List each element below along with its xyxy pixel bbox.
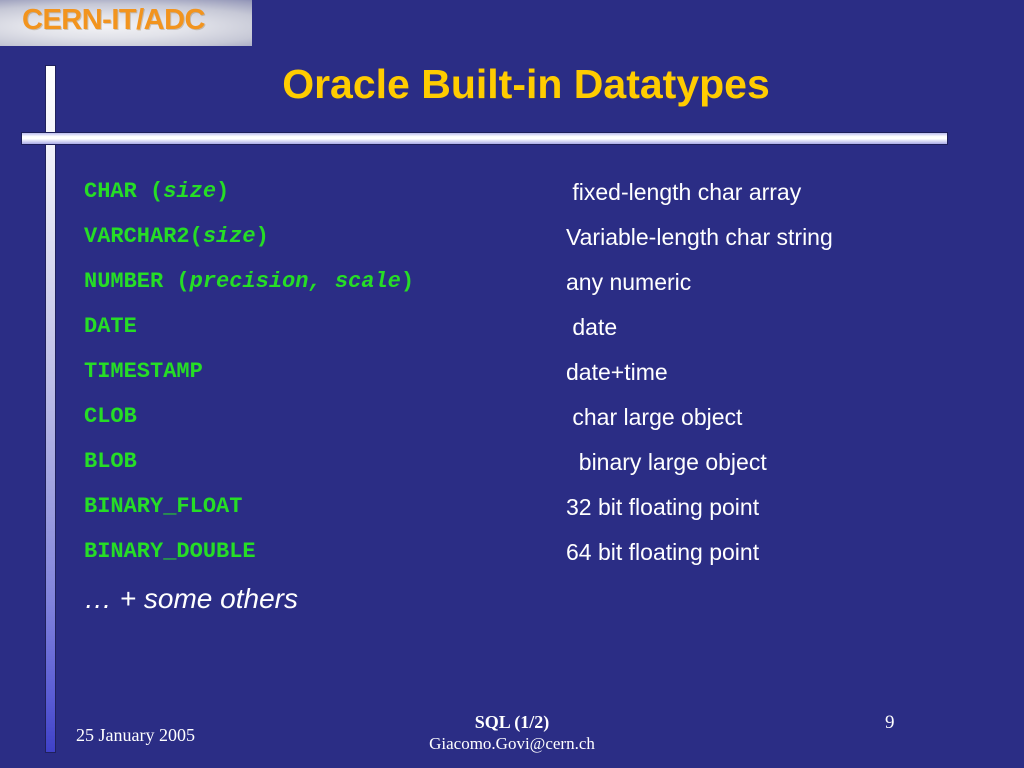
datatype-row: VARCHAR2(size)Variable-length char strin… [0, 223, 1024, 268]
datatype-row: BINARY_DOUBLE64 bit floating point [0, 538, 1024, 583]
datatype-row: BINARY_FLOAT32 bit floating point [0, 493, 1024, 538]
datatype-row: DATE date [0, 313, 1024, 358]
datatype-row: CLOB char large object [0, 403, 1024, 448]
datatype-keyword: VARCHAR2( [84, 224, 203, 249]
horizontal-accent-bar [21, 132, 948, 145]
datatype-keyword: CHAR ( [84, 179, 163, 204]
datatype-name: CHAR (size) [84, 178, 229, 206]
datatype-keyword: DATE [84, 314, 137, 339]
datatype-keyword: BLOB [84, 449, 137, 474]
cern-logo-band: CERN-IT/ADC [0, 0, 252, 46]
datatype-parameter: precision, scale [190, 269, 401, 294]
datatype-description: 64 bit floating point [566, 538, 759, 566]
datatype-name: BLOB [84, 448, 137, 476]
datatype-keyword: NUMBER ( [84, 269, 190, 294]
datatype-name: BINARY_DOUBLE [84, 538, 256, 566]
datatype-suffix: ) [216, 179, 229, 204]
datatype-name: CLOB [84, 403, 137, 431]
tail-note: … + some others [84, 583, 298, 615]
footer-email: Giacomo.Govi@cern.ch [312, 733, 712, 754]
cern-logo-text: CERN-IT/ADC [22, 4, 205, 37]
datatype-description: Variable-length char string [566, 223, 833, 251]
footer-center: SQL (1/2) Giacomo.Govi@cern.ch [312, 712, 712, 754]
datatype-name: VARCHAR2(size) [84, 223, 269, 251]
datatype-description: date [566, 313, 617, 341]
datatype-keyword: BINARY_DOUBLE [84, 539, 256, 564]
datatype-row: BLOB binary large object [0, 448, 1024, 493]
footer-title: SQL (1/2) [312, 712, 712, 733]
datatype-name: DATE [84, 313, 137, 341]
page-title: Oracle Built-in Datatypes [96, 61, 956, 108]
datatype-description: binary large object [566, 448, 767, 476]
datatype-description: any numeric [566, 268, 691, 296]
slide-canvas: CERN-IT/ADC Oracle Built-in Datatypes CH… [0, 0, 1024, 768]
datatype-parameter: size [163, 179, 216, 204]
datatype-keyword: CLOB [84, 404, 137, 429]
datatype-name: BINARY_FLOAT [84, 493, 242, 521]
datatype-keyword: BINARY_FLOAT [84, 494, 242, 519]
datatype-keyword: TIMESTAMP [84, 359, 203, 384]
datatype-name: TIMESTAMP [84, 358, 203, 386]
datatype-description: fixed-length char array [566, 178, 801, 206]
datatype-description: 32 bit floating point [566, 493, 759, 521]
datatype-description: char large object [566, 403, 742, 431]
datatype-row: CHAR (size) fixed-length char array [0, 178, 1024, 223]
datatype-name: NUMBER (precision, scale) [84, 268, 414, 296]
datatype-parameter: size [203, 224, 256, 249]
datatype-description: date+time [566, 358, 668, 386]
datatype-suffix: ) [401, 269, 414, 294]
datatype-list: CHAR (size) fixed-length char arrayVARCH… [0, 178, 1024, 583]
datatype-row: TIMESTAMPdate+time [0, 358, 1024, 403]
datatype-row: NUMBER (precision, scale)any numeric [0, 268, 1024, 313]
footer-page-number: 9 [885, 712, 895, 734]
datatype-suffix: ) [256, 224, 269, 249]
footer-date: 25 January 2005 [76, 725, 195, 746]
